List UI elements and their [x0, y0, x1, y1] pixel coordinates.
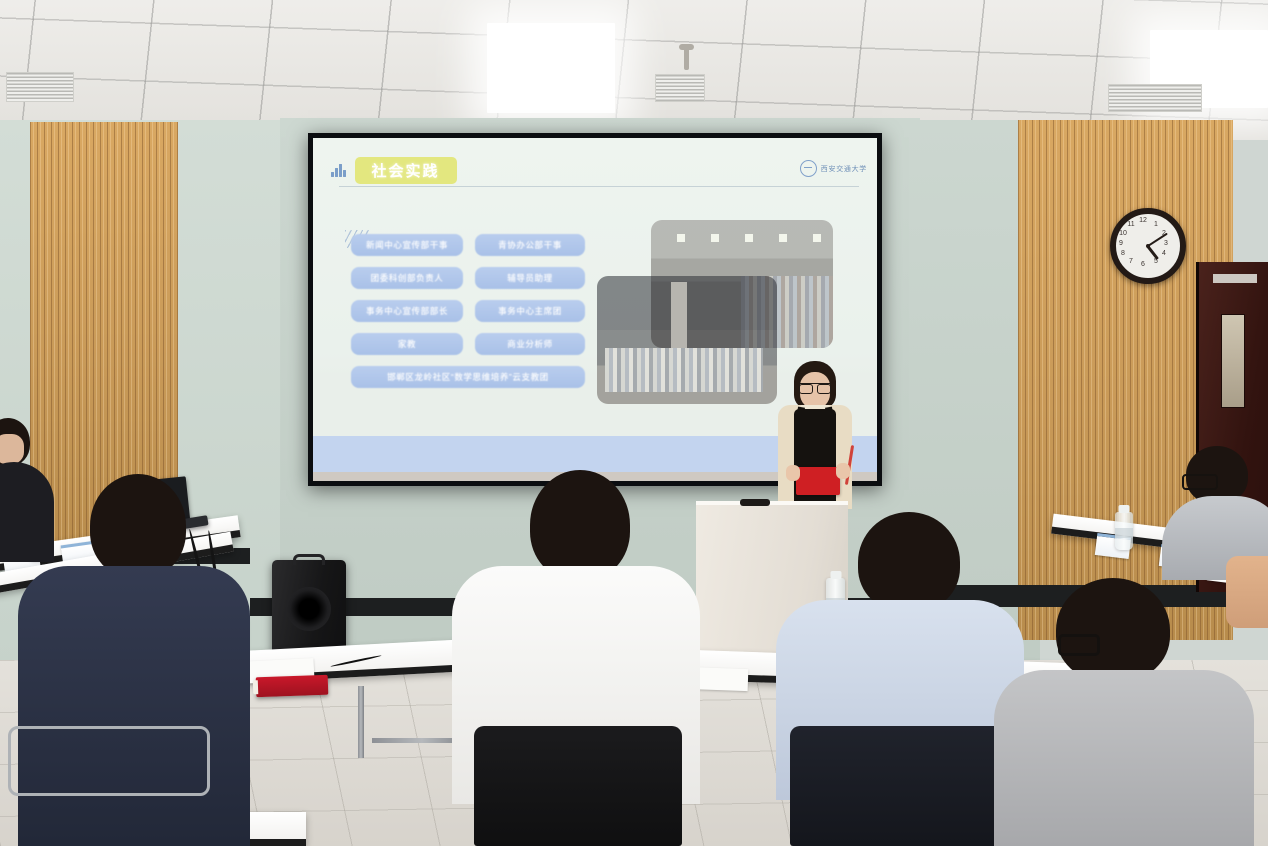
slide-role-row: 新闻中心宣传部干事 青协办公部干事 — [351, 234, 621, 256]
red-folder — [796, 467, 840, 495]
role-pill: 青协办公部干事 — [475, 234, 585, 256]
clock-number: 11 — [1126, 221, 1136, 228]
presenter-hand — [786, 465, 800, 481]
clock-number: 12 — [1138, 217, 1148, 224]
role-pill: 辅导员助理 — [475, 267, 585, 289]
ceiling-air-vent — [1108, 84, 1202, 112]
wall-clock: 12 1 2 3 4 5 6 7 8 9 10 11 — [1110, 208, 1186, 284]
slide-role-row: 家教 商业分析师 — [351, 333, 621, 355]
slide-divider — [339, 186, 859, 187]
ceiling-air-vent — [6, 72, 74, 102]
attendee-grey-hoodie — [1000, 578, 1252, 846]
clock-number: 7 — [1126, 258, 1136, 265]
speaker-handle — [293, 554, 325, 565]
speaker-woofer — [287, 587, 331, 631]
role-pill: 团委科创部负责人 — [351, 267, 463, 289]
eyeglasses-icon — [1182, 474, 1218, 490]
presenter-hand — [836, 463, 850, 479]
slide-role-row: 邯郸区龙岭社区“数学思维培养”云支教团 — [351, 366, 621, 388]
attendee-torso — [18, 566, 250, 846]
classroom-presentation-photo: 12 1 2 3 4 5 6 7 8 9 10 11 社会实践 西安交通大学 — [0, 0, 1268, 846]
photo-crowd — [605, 348, 763, 392]
clock-number: 9 — [1116, 240, 1126, 247]
chair-back — [474, 726, 682, 846]
role-pill: 家教 — [351, 333, 463, 355]
door-sign-plate — [1213, 274, 1257, 283]
attendee-grey-jacket — [1164, 446, 1268, 564]
role-pill-wide: 邯郸区龙岭社区“数学思维培养”云支教团 — [351, 366, 585, 388]
attendee-blue-shirt — [776, 512, 1026, 846]
clock-number: 10 — [1118, 230, 1128, 237]
door-glass-panel — [1221, 314, 1245, 408]
attendee-face — [0, 434, 24, 464]
microphone — [740, 499, 770, 506]
sprinkler-head — [684, 48, 689, 70]
eyeglasses-icon — [1058, 634, 1100, 656]
attendee-arm — [1226, 556, 1268, 628]
university-emblem-icon — [800, 160, 817, 177]
university-logo: 西安交通大学 — [800, 160, 867, 177]
slide-heading: 社会实践 — [355, 157, 457, 184]
slide-role-row: 团委科创部负责人 辅导员助理 — [351, 267, 621, 289]
slide-role-list: 新闻中心宣传部干事 青协办公部干事 团委科创部负责人 辅导员助理 事务中心宣传部… — [351, 234, 621, 399]
group-photo-lobby — [597, 276, 777, 404]
clock-number: 4 — [1159, 250, 1169, 257]
attendee-white-shirt — [452, 470, 702, 846]
bar-chart-icon — [331, 164, 346, 177]
role-pill: 事务中心宣传部部长 — [351, 300, 463, 322]
slide-title-group: 社会实践 — [331, 157, 457, 184]
chair-frame — [8, 726, 210, 796]
eyeglasses-icon — [799, 383, 831, 393]
table-leg — [358, 686, 364, 758]
attendee-head — [90, 474, 186, 578]
chair-back — [790, 726, 1016, 846]
attendee-head — [858, 512, 960, 612]
role-pill: 商业分析师 — [475, 333, 585, 355]
red-notebook — [256, 675, 329, 698]
photo-ceiling-lights — [651, 234, 833, 242]
role-pill: 事务中心主席团 — [475, 300, 585, 322]
clock-number: 6 — [1138, 261, 1148, 268]
clock-number: 3 — [1161, 240, 1171, 247]
role-pill: 新闻中心宣传部干事 — [351, 234, 463, 256]
attendee-head — [530, 470, 630, 580]
sprinkler-head — [679, 44, 694, 50]
student-presenter — [772, 361, 858, 509]
water-bottle — [1115, 512, 1133, 550]
slide-role-row: 事务中心宣传部部长 事务中心主席团 — [351, 300, 621, 322]
ceiling-air-vent — [655, 74, 705, 102]
ceiling-light-panel — [487, 23, 615, 113]
clock-number: 1 — [1151, 221, 1161, 228]
clock-center-pin — [1146, 244, 1150, 248]
clock-number: 8 — [1118, 250, 1128, 257]
attendee-torso — [994, 670, 1254, 846]
attendee-head — [1056, 578, 1170, 682]
university-name: 西安交通大学 — [821, 164, 867, 174]
